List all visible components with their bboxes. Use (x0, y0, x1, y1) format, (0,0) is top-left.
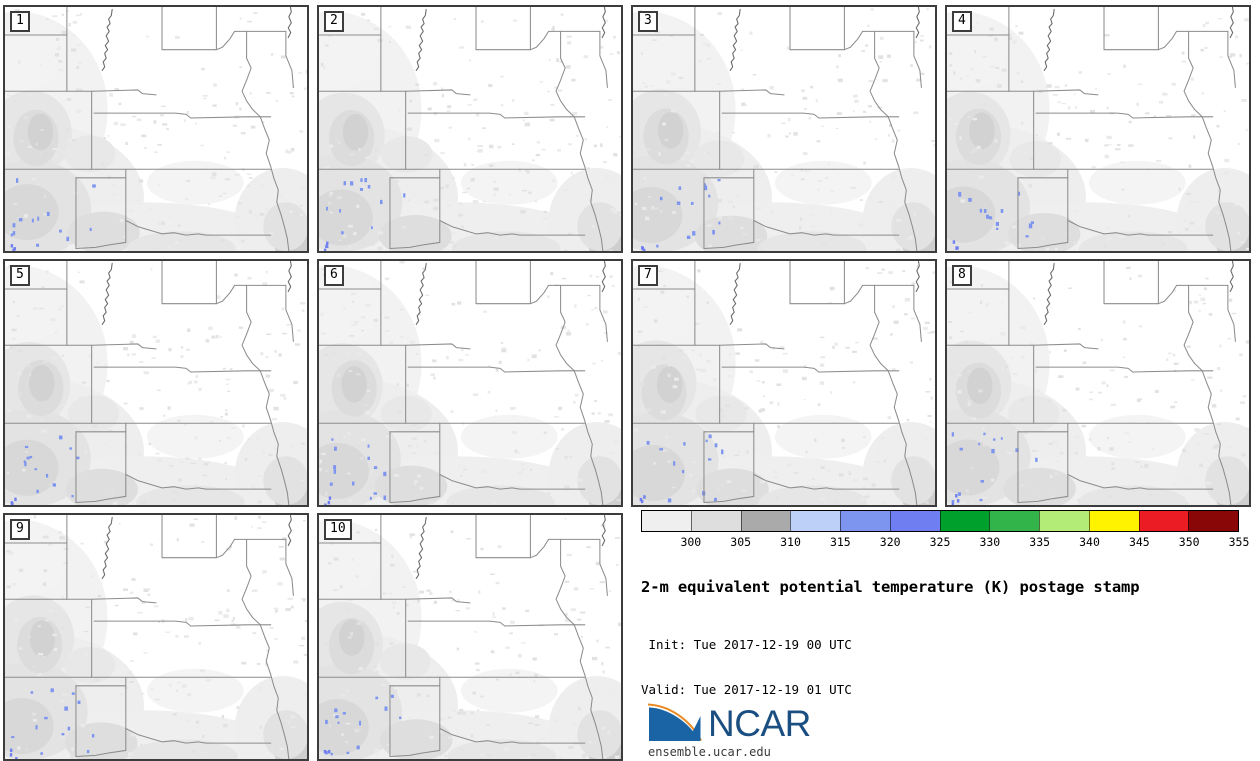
panel-label-5: 5 (10, 265, 30, 286)
colorbar-tick-335: 335 (1029, 535, 1050, 549)
panel-map-1 (5, 7, 307, 251)
colorbar-swatch-3 (790, 511, 840, 531)
colorbar (641, 510, 1239, 532)
ncar-logo-block[interactable]: NCAR ensemble.ucar.edu (648, 694, 811, 759)
panel-map-5 (5, 261, 307, 505)
panel-map-10 (319, 515, 621, 759)
colorbar-tick-350: 350 (1179, 535, 1200, 549)
panel-map-3 (633, 7, 935, 251)
panel-map-7 (633, 261, 935, 505)
colorbar-tick-340: 340 (1079, 535, 1100, 549)
colorbar-swatch-9 (1089, 511, 1139, 531)
panel-label-1: 1 (10, 11, 30, 32)
panel-label-3: 3 (638, 11, 658, 32)
panel-map-4 (947, 7, 1249, 251)
panel-label-9: 9 (10, 519, 30, 540)
plot-title: 2-m equivalent potential temperature (K)… (641, 578, 1253, 596)
colorbar-tick-315: 315 (830, 535, 851, 549)
colorbar-swatch-8 (1039, 511, 1089, 531)
stamp-panel-10[interactable]: 10 (317, 513, 623, 761)
stamp-panel-2[interactable]: 2 (317, 5, 623, 253)
stamp-panel-3[interactable]: 3 (631, 5, 937, 253)
colorbar-tick-325: 325 (930, 535, 951, 549)
colorbar-swatch-6 (940, 511, 990, 531)
colorbar-swatch-4 (840, 511, 890, 531)
ncar-logo-mark-icon (648, 694, 706, 742)
stamp-panel-4[interactable]: 4 (945, 5, 1251, 253)
colorbar-legend: 300305310315320325330335340345350355 (641, 510, 1241, 551)
colorbar-swatch-2 (741, 511, 791, 531)
ensemble-url-label: ensemble.ucar.edu (648, 745, 811, 759)
colorbar-tick-305: 305 (730, 535, 751, 549)
stamp-panel-6[interactable]: 6 (317, 259, 623, 507)
ncar-wordmark: NCAR (708, 705, 811, 742)
colorbar-tick-310: 310 (780, 535, 801, 549)
panel-map-9 (5, 515, 307, 759)
colorbar-swatch-7 (989, 511, 1039, 531)
stamp-panel-5[interactable]: 5 (3, 259, 309, 507)
panel-label-2: 2 (324, 11, 344, 32)
colorbar-tick-300: 300 (680, 535, 701, 549)
colorbar-swatch-1 (691, 511, 741, 531)
panel-label-4: 4 (952, 11, 972, 32)
panel-label-6: 6 (324, 265, 344, 286)
panel-map-2 (319, 7, 621, 251)
colorbar-tick-355: 355 (1229, 535, 1250, 549)
colorbar-swatch-0 (642, 511, 691, 531)
colorbar-swatch-11 (1188, 511, 1238, 531)
panel-map-8 (947, 261, 1249, 505)
colorbar-tick-330: 330 (979, 535, 1000, 549)
logo-row: NCAR (648, 694, 811, 742)
stamp-panel-1[interactable]: 1 (3, 5, 309, 253)
colorbar-swatch-5 (890, 511, 940, 531)
stamp-panel-8[interactable]: 8 (945, 259, 1251, 507)
panel-label-10: 10 (324, 519, 352, 540)
colorbar-swatch-10 (1139, 511, 1189, 531)
panel-label-7: 7 (638, 265, 658, 286)
panel-map-6 (319, 261, 621, 505)
colorbar-tick-320: 320 (880, 535, 901, 549)
panel-label-8: 8 (952, 265, 972, 286)
stamp-panel-9[interactable]: 9 (3, 513, 309, 761)
colorbar-tick-345: 345 (1129, 535, 1150, 549)
stamp-panel-7[interactable]: 7 (631, 259, 937, 507)
colorbar-tick-labels: 300305310315320325330335340345350355 (641, 535, 1239, 551)
init-time-line: Init: Tue 2017-12-19 00 UTC (641, 637, 1253, 652)
